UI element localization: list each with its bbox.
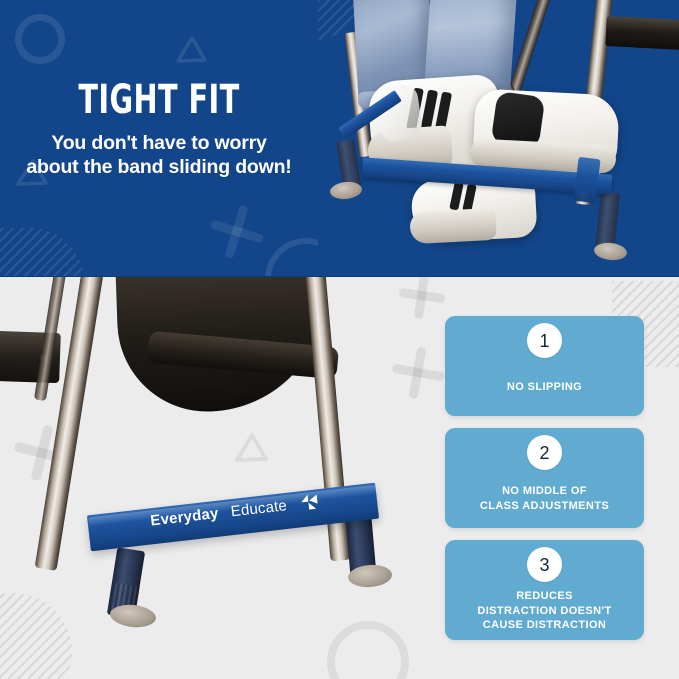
feature-card-1[interactable]: 1 NO SLIPPING bbox=[445, 316, 644, 416]
hero-text-block: TIGHT FIT You don't have to worry about … bbox=[0, 80, 318, 180]
feature-card-3[interactable]: 3 REDUCES DISTRACTION DOESN'T CAUSE DIST… bbox=[445, 540, 644, 640]
infographic-root: TIGHT FIT You don't have to worry about … bbox=[0, 0, 679, 679]
top-hero-panel: TIGHT FIT You don't have to worry about … bbox=[0, 0, 679, 277]
card-number-badge-2: 2 bbox=[527, 435, 562, 470]
card-number-badge-1: 1 bbox=[527, 323, 562, 358]
card-label-1: NO SLIPPING bbox=[497, 358, 592, 416]
chair-bracket-top-right bbox=[605, 16, 679, 50]
bottom-panel: Everyday Educate 1 NO SLIPPING 2 NO bbox=[0, 277, 679, 679]
sneaker-lower-toecap bbox=[409, 208, 497, 244]
circle-ring-decoration-topleft bbox=[15, 14, 65, 64]
card-label-2: NO MIDDLE OF CLASS ADJUSTMENTS bbox=[470, 470, 619, 528]
feature-card-list: 1 NO SLIPPING 2 NO MIDDLE OF CLASS ADJUS… bbox=[445, 316, 644, 652]
triangle-outline-decoration-top bbox=[172, 33, 210, 67]
feature-card-2[interactable]: 2 NO MIDDLE OF CLASS ADJUSTMENTS bbox=[445, 428, 644, 528]
card-number-badge-3: 3 bbox=[527, 547, 562, 582]
plus-decoration-top-mid bbox=[203, 198, 270, 265]
product-photo-chair-legs: Everyday Educate bbox=[0, 277, 440, 679]
hero-headline: TIGHT FIT bbox=[32, 80, 286, 120]
hero-photo-feet-on-band bbox=[318, 0, 679, 277]
stripe-wedge-decoration-bottomleft bbox=[0, 228, 84, 277]
chair-foot-left bbox=[109, 603, 157, 630]
triangles-logo-icon bbox=[298, 492, 320, 511]
card-label-3: REDUCES DISTRACTION DOESN'T CAUSE DISTRA… bbox=[467, 582, 621, 640]
hero-subhead: You don't have to worry about the band s… bbox=[0, 132, 318, 180]
